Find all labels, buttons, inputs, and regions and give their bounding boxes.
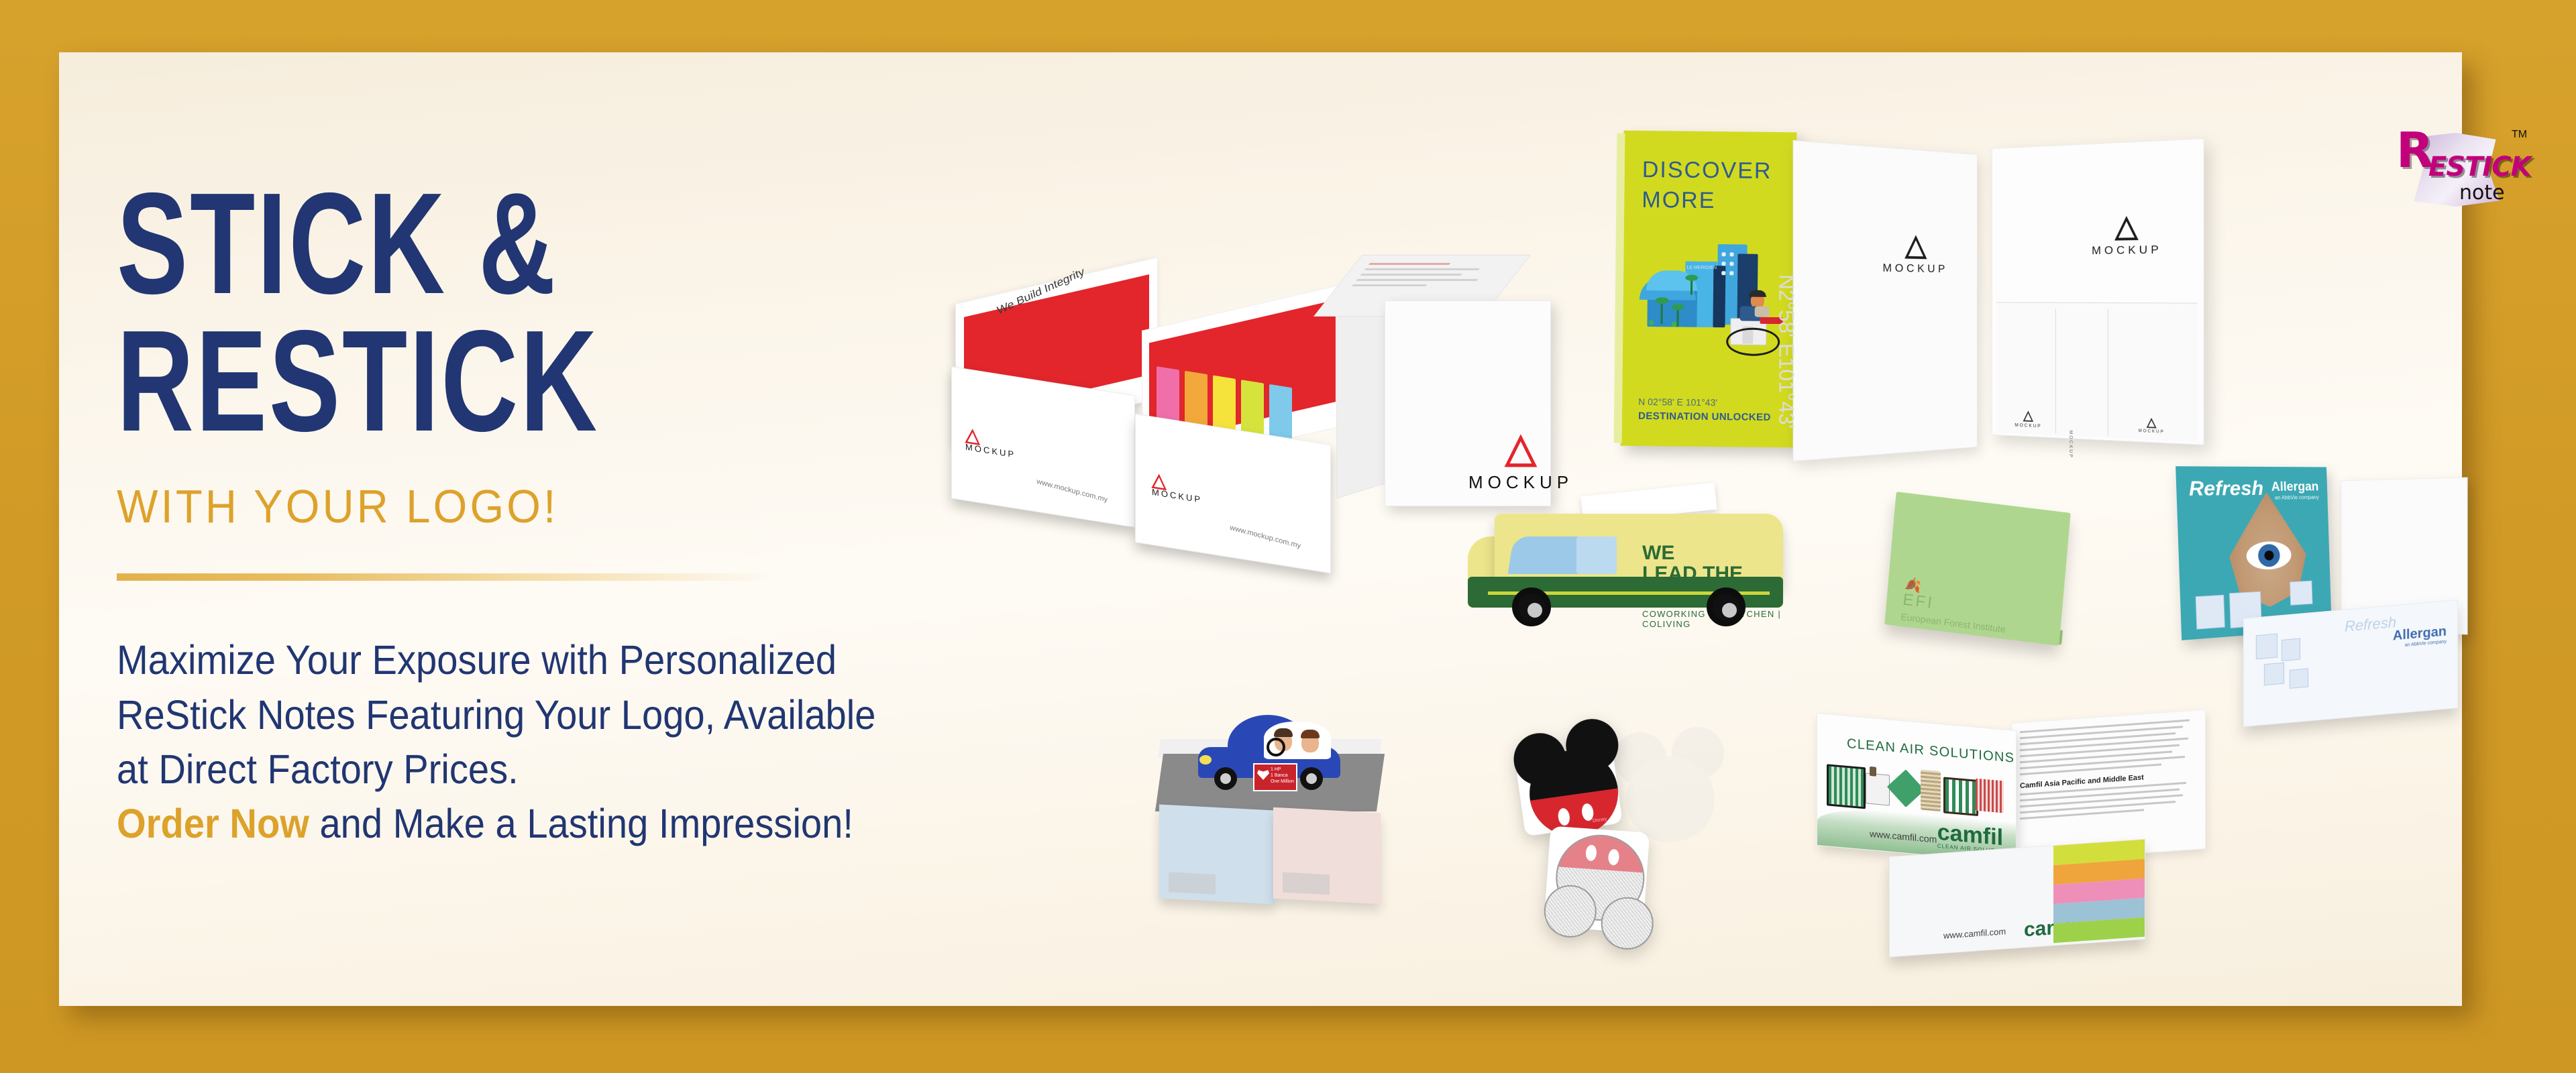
body-line-3: at Direct Factory Prices. (117, 742, 931, 797)
mickey-pants-2 (1558, 834, 1646, 873)
folder-brand-lockup-right: △ MOCKUP (2092, 215, 2162, 258)
driver-hair (1274, 728, 1293, 737)
car-front-wheel (1214, 767, 1237, 790)
discover-coordinates: N 02°58' E 101°43' (1638, 396, 1771, 410)
sticky-box-left-pad: △ MOCKUP www.mockup.com.my (951, 366, 1135, 527)
discover-footer-text: DESTINATION UNLOCKED (1638, 409, 1771, 425)
cube-brand-label: MOCKUP (1464, 472, 1577, 493)
banner-inner-panel: STICK & RESTICK WITH YOUR LOGO! Maximize… (59, 52, 2462, 1006)
cube-top-microtext (1343, 263, 1505, 298)
logo-trademark: TM (2512, 129, 2527, 141)
van-windshield (1508, 536, 1587, 574)
body-line-1: Maximize Your Exposure with Personalized (117, 633, 931, 687)
allergan-pad-lockup: Allergan an AbbVie company (2393, 624, 2447, 648)
refresh-watermark: Refresh (2345, 614, 2396, 636)
sticky-box-url-2: www.mockup.com.my (1230, 524, 1301, 551)
allergan-tagline: an AbbVie company (2271, 494, 2319, 501)
sticky-box-url: www.mockup.com.my (1036, 477, 1108, 504)
camfil-note-pad: www.camfil.com camfil (1889, 839, 2145, 958)
restick-note-logo[interactable]: R ESTICK note TM (2394, 127, 2525, 213)
camfil-info-panel: Camfil Asia Pacific and Middle East (2011, 710, 2206, 862)
body-line-4: Order Now and Make a Lasting Impression! (117, 797, 931, 851)
cube-side-face (1336, 287, 1387, 498)
folder-pocket-brand-3: △ MOCKUP (2139, 418, 2165, 435)
folder-pocket-brand-1: △ MOCKUP (2015, 410, 2041, 429)
folder-coordinates: N2°58' E101°43' (1774, 274, 1798, 430)
folder-pocket-brand-2: MOCKUP (2068, 430, 2073, 459)
camfil-title: CLEAN AIR SOLUTIONS (1847, 736, 2015, 767)
van-door-window (1576, 536, 1617, 574)
cube-front-face: △ MOCKUP (1385, 300, 1551, 506)
car-window (1264, 722, 1331, 759)
allergan-lockup: Allergan an AbbVie company (2271, 480, 2319, 501)
car-pad-pink (1273, 807, 1381, 904)
product-camfil-note-set: Camfil Asia Pacific and Middle East CLEA… (1817, 716, 2206, 971)
folder-right-panel: △ MOCKUP △ MOCKUP MOCKUP △ MO (1992, 138, 2204, 445)
product-sticky-note-box: We Build Integrity △ MOCKUP www.mockup.c… (955, 280, 1351, 569)
product-shot-3 (2290, 581, 2312, 606)
steering-wheel-icon (1267, 738, 1285, 756)
folder-brand-label-left: MOCKUP (1882, 261, 1947, 275)
hero-copy-block: STICK & RESTICK WITH YOUR LOGO! Maximize… (117, 173, 1002, 851)
discover-title: DISCOVER MORE (1642, 155, 1772, 217)
passenger-hair (1301, 730, 1320, 738)
product-shot-1 (2196, 595, 2225, 630)
allergan-name: Allergan (2271, 480, 2318, 495)
discover-title-line-1: DISCOVER (1642, 155, 1772, 186)
cube-brand-lockup: △ MOCKUP (1464, 433, 1577, 493)
discover-cover-illustration: LE MERIDIEN (1632, 238, 1785, 380)
hotel-label: LE MERIDIEN (1686, 266, 1717, 270)
discover-title-line-2: MORE (1642, 185, 1772, 217)
product-car-popup-pad: 1 HP 1 Banca One Million (1159, 710, 1387, 911)
car-heart-plate: 1 HP 1 Banca One Million (1253, 763, 1297, 791)
car-rear-wheel (1300, 767, 1323, 790)
camfil-flag-stack (2053, 840, 2145, 944)
body-line-2: ReStick Notes Featuring Your Logo, Avail… (117, 688, 931, 742)
van-text-line-1: WE (1642, 543, 1783, 564)
product-mickey-shaped-notes: Disney (1508, 730, 1729, 978)
refresh-brand: Refresh (2188, 477, 2263, 501)
mockup-mark-icon-5: △ (2092, 215, 2162, 238)
product-efi-green-pad: 🍂 EFI European Forest Institute (1890, 502, 2078, 663)
van-front-wheel (1512, 587, 1551, 626)
folder-left-panel: △ MOCKUP N2°58' E101°43' (1793, 140, 1978, 461)
plate-text: 1 HP 1 Banca One Million (1271, 767, 1294, 785)
discover-footer: N 02°58' E 101°43' DESTINATION UNLOCKED (1638, 396, 1771, 425)
van-rear-wheel (1707, 587, 1746, 626)
page-title-line-1: STICK & (117, 173, 772, 315)
heart-icon (1257, 769, 1269, 780)
order-now-link[interactable]: Order Now (117, 801, 309, 846)
product-collage: We Build Integrity △ MOCKUP www.mockup.c… (951, 113, 2521, 1052)
camfil-pad-url: www.camfil.com (1943, 926, 2006, 941)
car-illustration: 1 HP 1 Banca One Million (1198, 715, 1340, 795)
hero-subheadline: WITH YOUR LOGO! (117, 479, 941, 533)
folder-brand-lockup-left: △ MOCKUP (1882, 234, 1947, 276)
product-discover-more-book: DISCOVER MORE LE MERIDIEN (1621, 131, 1797, 448)
product-refresh-allergan-set: Refresh Allergan an AbbVie company Refre… (2179, 467, 2474, 735)
folder-brand-label-right: MOCKUP (2092, 243, 2162, 258)
page-title-line-2: RESTICK (117, 310, 772, 452)
car-headlight (1199, 755, 1212, 765)
mockup-mark-icon-3: △ (1464, 433, 1577, 463)
book-spine (1614, 133, 1625, 443)
product-mockup-folders: △ MOCKUP N2°58' E101°43' △ MOCKUP △ (1793, 144, 2209, 459)
promo-banner: STICK & RESTICK WITH YOUR LOGO! Maximize… (0, 0, 2576, 1073)
product-mockup-cube: △ MOCKUP (1332, 255, 1554, 520)
mockup-mark-icon-4: △ (1882, 234, 1947, 257)
logo-subword: note (2459, 181, 2505, 205)
refresh-note-pad: Refresh Allergan an AbbVie company (2243, 600, 2458, 727)
product-van-shaped-note: WE LEAD THE TREND COWORKING | COKITCHEN … (1468, 502, 1790, 636)
hero-body-copy: Maximize Your Exposure with Personalized… (117, 633, 931, 851)
car-pad-blue (1159, 804, 1275, 904)
logo-wordmark: ESTICK (2428, 152, 2531, 182)
body-line-4-rest: and Make a Lasting Impression! (309, 801, 853, 846)
gold-divider (117, 573, 774, 581)
camfil-cover: CLEAN AIR SOLUTIONS www.camfil.com camfi… (1817, 713, 2017, 863)
